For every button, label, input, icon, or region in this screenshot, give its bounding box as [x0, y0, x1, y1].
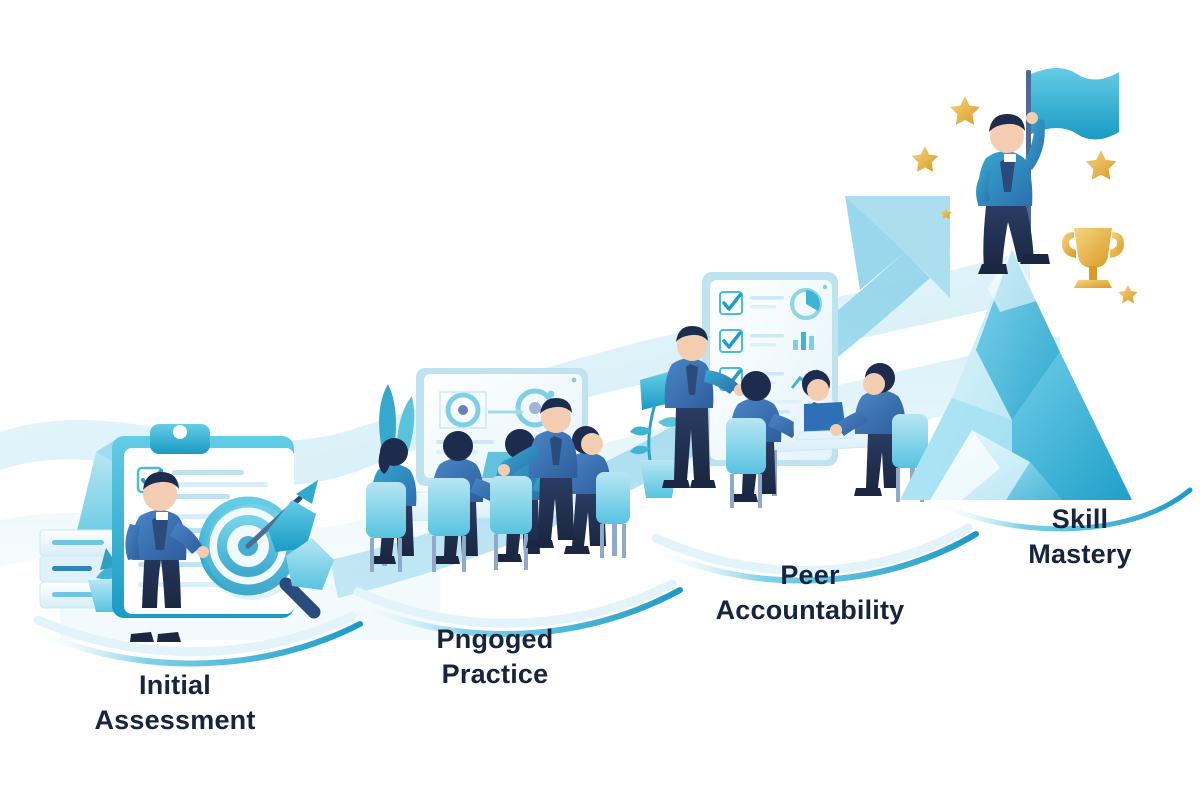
- star-icon: [1118, 285, 1137, 303]
- scene-practice-training: [366, 368, 630, 572]
- step-label-practice: Pngoged Practice: [385, 622, 605, 691]
- star-icon: [950, 96, 980, 125]
- gold-trophy: [1062, 228, 1124, 288]
- businessman-summit: [976, 112, 1050, 274]
- step-label-peer-accountability: Peer Accountability: [690, 558, 930, 627]
- star-icon: [912, 146, 939, 172]
- star-icon: [1086, 150, 1117, 180]
- infographic-canvas: Initial Assessment Pngoged Practice Peer…: [0, 0, 1200, 800]
- step-label-initial-assessment: Initial Assessment: [60, 668, 290, 737]
- step-label-skill-mastery: Skill Mastery: [985, 502, 1175, 571]
